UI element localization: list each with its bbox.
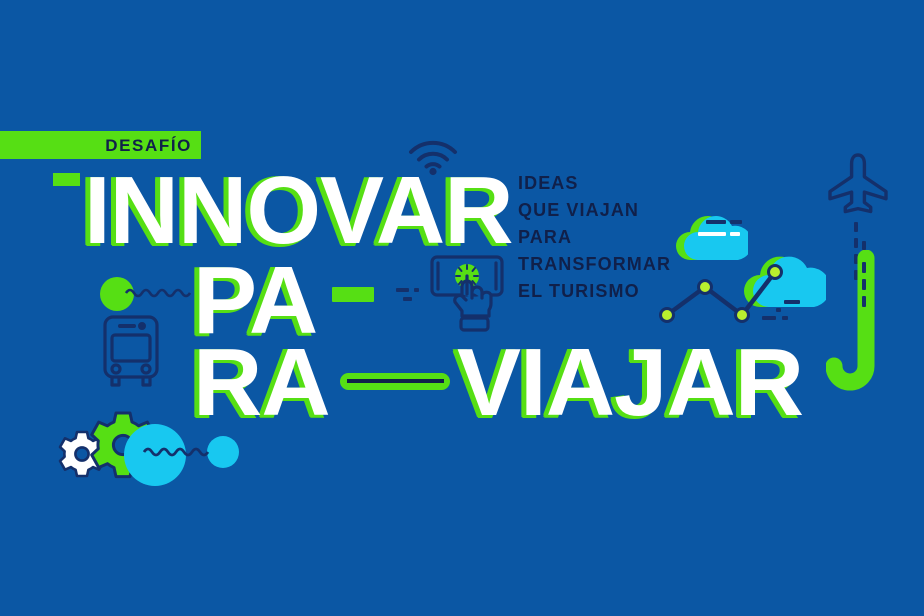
subcopy-line-3: PARA bbox=[518, 228, 671, 246]
bus-icon bbox=[100, 313, 162, 389]
subcopy-line-1: IDEAS bbox=[518, 174, 671, 192]
airplane-icon bbox=[824, 150, 892, 218]
green-tick-dash bbox=[53, 173, 80, 186]
headline-line-innovar: INNOVAR bbox=[84, 163, 513, 259]
desafio-banner: DESAFÍO bbox=[0, 131, 201, 159]
squiggle-line-top bbox=[125, 285, 191, 301]
wifi-icon bbox=[405, 136, 461, 176]
squiggle-line-bottom bbox=[143, 444, 213, 460]
subcopy-block: IDEAS QUE VIAJAN PARA TRANSFORMAR EL TUR… bbox=[518, 174, 671, 300]
headline-emdash-core bbox=[347, 379, 444, 383]
green-path-hook-icon bbox=[826, 250, 886, 402]
poster-canvas: DESAFÍO INNOVAR PA RA VIAJAR IDEAS QUE V… bbox=[0, 0, 924, 616]
headline-line-viajar: VIAJAR bbox=[457, 335, 803, 431]
headline-hyphen bbox=[332, 287, 374, 302]
subcopy-line-5: EL TURISMO bbox=[518, 282, 671, 300]
hand-tap-tablet-icon bbox=[428, 252, 506, 334]
desafio-label: DESAFÍO bbox=[105, 137, 192, 154]
subcopy-line-2: QUE VIAJAN bbox=[518, 201, 671, 219]
subcopy-line-4: TRANSFORMAR bbox=[518, 255, 671, 273]
headline-line-ra: RA bbox=[193, 335, 330, 431]
